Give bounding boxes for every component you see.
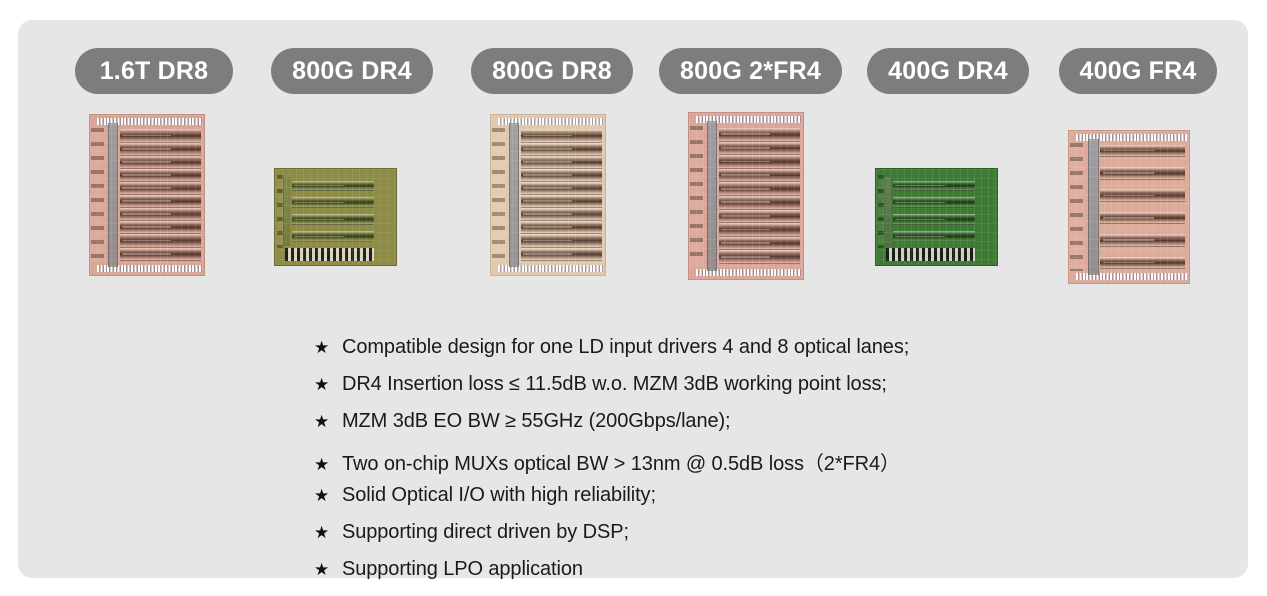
chip-die-800g-2fr4 <box>688 112 804 280</box>
star-icon: ★ <box>314 413 342 430</box>
product-pill-4[interactable]: 800G 2*FR4 <box>659 48 842 94</box>
die-texture-overlay <box>689 113 803 279</box>
product-pill-label: 800G DR8 <box>492 57 612 86</box>
feature-bullet-text: MZM 3dB EO BW ≥ 55GHz (200Gbps/lane); <box>342 410 731 433</box>
content-card: 1.6T DR8 800G DR4 800G DR8 800G 2*FR4 40… <box>18 20 1248 578</box>
feature-bullet-text: Supporting direct driven by DSP; <box>342 521 629 544</box>
chip-die-400g-fr4 <box>1068 130 1190 284</box>
feature-bullet-text: Supporting LPO application <box>342 558 583 581</box>
star-icon: ★ <box>314 376 342 393</box>
die-texture-overlay <box>1069 131 1189 283</box>
feature-bullet-text: DR4 Insertion loss ≤ 11.5dB w.o. MZM 3dB… <box>342 373 887 396</box>
product-pill-label: 800G 2*FR4 <box>680 57 821 86</box>
feature-bullet-item: ★ Compatible design for one LD input dri… <box>314 336 1094 373</box>
star-icon: ★ <box>314 456 342 473</box>
die-texture-overlay <box>275 169 396 265</box>
product-pill-6[interactable]: 400G FR4 <box>1059 48 1217 94</box>
product-pill-1[interactable]: 1.6T DR8 <box>75 48 233 94</box>
product-pill-label: 400G FR4 <box>1080 57 1197 86</box>
feature-bullet-item: ★ Supporting LPO application <box>314 558 1094 595</box>
feature-bullet-text: Two on-chip MUXs optical BW > 13nm @ 0.5… <box>342 447 900 476</box>
product-pill-2[interactable]: 800G DR4 <box>271 48 433 94</box>
die-texture-overlay <box>90 115 204 275</box>
die-texture-overlay <box>491 115 605 275</box>
feature-bullet-list: ★ Compatible design for one LD input dri… <box>314 336 1094 595</box>
chip-die-800g-dr8 <box>490 114 606 276</box>
product-pill-label: 800G DR4 <box>292 57 412 86</box>
star-icon: ★ <box>314 524 342 541</box>
slide-canvas: 1.6T DR8 800G DR4 800G DR8 800G 2*FR4 40… <box>0 0 1267 596</box>
feature-bullet-item: ★ Supporting direct driven by DSP; <box>314 521 1094 558</box>
chip-die-1-6t-dr8 <box>89 114 205 276</box>
feature-bullet-item: ★ Solid Optical I/O with high reliabilit… <box>314 484 1094 521</box>
product-pill-3[interactable]: 800G DR8 <box>471 48 633 94</box>
star-icon: ★ <box>314 487 342 504</box>
chip-die-800g-dr4 <box>274 168 397 266</box>
feature-bullet-item: ★ DR4 Insertion loss ≤ 11.5dB w.o. MZM 3… <box>314 373 1094 410</box>
star-icon: ★ <box>314 339 342 356</box>
feature-bullet-item: ★ MZM 3dB EO BW ≥ 55GHz (200Gbps/lane); <box>314 410 1094 447</box>
product-pill-label: 1.6T DR8 <box>100 57 209 86</box>
chip-die-400g-dr4 <box>875 168 998 266</box>
die-texture-overlay <box>876 169 997 265</box>
feature-bullet-text: Compatible design for one LD input drive… <box>342 336 909 359</box>
feature-bullet-item: ★ Two on-chip MUXs optical BW > 13nm @ 0… <box>314 447 1094 484</box>
product-pill-label: 400G DR4 <box>888 57 1008 86</box>
feature-bullet-text: Solid Optical I/O with high reliability; <box>342 484 656 507</box>
star-icon: ★ <box>314 561 342 578</box>
product-pill-5[interactable]: 400G DR4 <box>867 48 1029 94</box>
